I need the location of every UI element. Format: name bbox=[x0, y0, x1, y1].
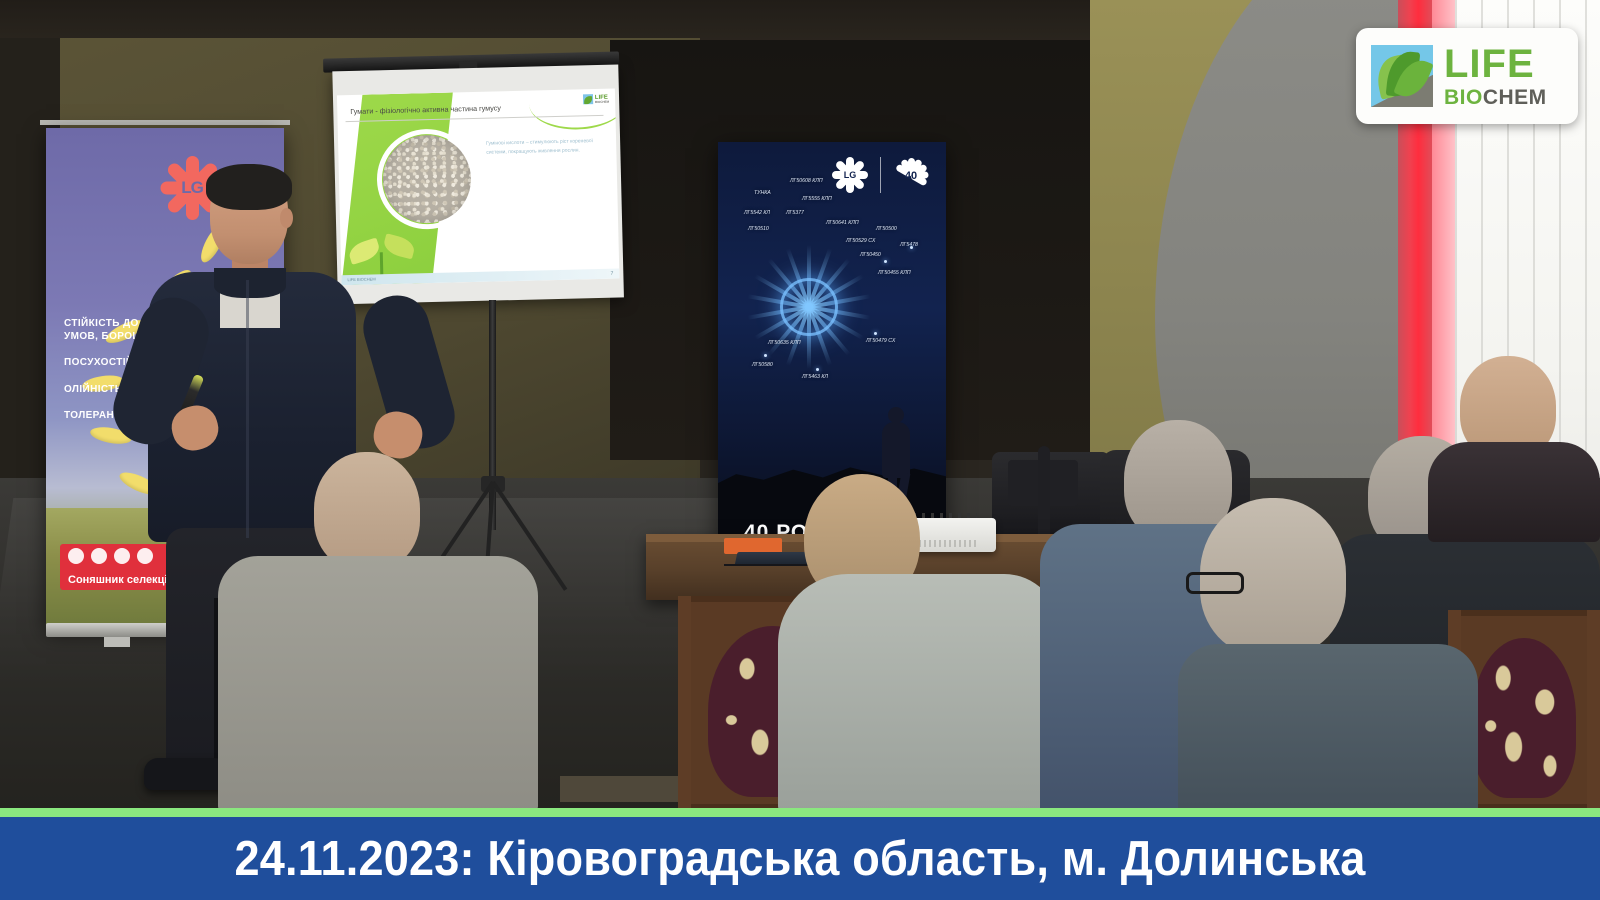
torso bbox=[218, 556, 538, 808]
head bbox=[314, 452, 420, 570]
anniversary-number: 40 bbox=[905, 170, 917, 182]
constellation-node bbox=[884, 260, 887, 263]
anniversary-badge-icon: 40 bbox=[890, 154, 932, 196]
leaf-icon bbox=[1371, 45, 1433, 107]
logo-wordmark: LIFE BIOCHEM bbox=[1444, 44, 1547, 108]
logo-chem-text: CHEM bbox=[1483, 86, 1547, 109]
hybrid-label: ЛГ50479 СХ bbox=[866, 338, 895, 344]
banner-right-logos: LG 40 bbox=[829, 154, 932, 196]
presenter-collar bbox=[214, 268, 286, 298]
photo-slide: LG СТІЙКІСТЬ ДО НЕСПРИЯТЛИВИХ УМОВ, БОРО… bbox=[0, 0, 1600, 900]
presenter-ear bbox=[280, 208, 293, 228]
hybrid-label: ЛГ5555 КЛП bbox=[802, 196, 832, 202]
hybrid-label: ЛГ50529 СХ bbox=[846, 238, 875, 244]
logo-biochem-text: BIOCHEM bbox=[1444, 87, 1547, 108]
caption-green-rule bbox=[0, 808, 1600, 817]
lg-logo-icon: LG bbox=[829, 154, 871, 196]
lg-logo-text: LG bbox=[844, 170, 857, 180]
glasses-icon bbox=[1186, 572, 1244, 594]
hybrid-label: ЛГ50580 bbox=[752, 362, 773, 368]
leaf-icon bbox=[583, 94, 593, 104]
hoodie bbox=[778, 574, 1060, 808]
hybrid-label: ЛГ50510 bbox=[748, 226, 769, 232]
logo-life-text: LIFE bbox=[1444, 44, 1547, 84]
hybrid-label: ЛГ50450 bbox=[860, 252, 881, 258]
hybrid-label: ЛГ5463 КЛ bbox=[802, 374, 828, 380]
hybrid-label: ЛГ50641 КЛП bbox=[826, 220, 859, 226]
banner-left-rod bbox=[40, 120, 290, 125]
slide-page-number: 7 bbox=[610, 271, 613, 277]
leaf-icon bbox=[91, 548, 107, 564]
logo-divider bbox=[880, 157, 881, 193]
audience-member bbox=[218, 452, 538, 808]
life-biochem-logo: LIFE BIOCHEM bbox=[1356, 28, 1578, 124]
audience-member bbox=[778, 474, 1060, 808]
sunflower-constellation-icon bbox=[744, 242, 874, 372]
slide-body-text: Гумінові кислоти – стимулюють ріст корен… bbox=[486, 137, 612, 158]
torso bbox=[1428, 442, 1600, 542]
hybrid-label: ЛГ50608 КЛП bbox=[790, 178, 823, 184]
hybrid-label: ЛГ5377 bbox=[786, 210, 804, 216]
hybrid-label: ЛГ5542 КЛ bbox=[744, 210, 770, 216]
logo-bio-text: BIO bbox=[1444, 86, 1483, 109]
slide-logo-sub: BIOCHEM bbox=[595, 100, 609, 103]
hybrid-label: ЛГ50500 bbox=[876, 226, 897, 232]
hybrid-label: ТУНКА bbox=[754, 190, 771, 196]
event-photo: LG СТІЙКІСТЬ ДО НЕСПРИЯТЛИВИХ УМОВ, БОРО… bbox=[0, 0, 1600, 808]
audience-member bbox=[1178, 498, 1478, 808]
slide-logo: LIFE BIOCHEM bbox=[583, 94, 609, 105]
banner-left-foot bbox=[104, 637, 130, 647]
sunflower-icon bbox=[68, 548, 84, 564]
constellation-node bbox=[816, 368, 819, 371]
hybrid-label: ЛГ50635 КЛП bbox=[768, 340, 801, 346]
audience-member bbox=[1420, 356, 1600, 538]
constellation-node bbox=[910, 246, 913, 249]
presenter-hair bbox=[206, 164, 292, 210]
caption-text: 24.11.2023: Кіровоградська область, м. Д… bbox=[64, 817, 1536, 900]
lg-logo-text: LG bbox=[181, 178, 203, 198]
hybrid-label: ЛГ50455 КЛП bbox=[878, 270, 911, 276]
hybrid-label: ЛГ5478 bbox=[900, 242, 918, 248]
ceiling bbox=[0, 0, 1160, 42]
slide-logo-text: LIFE BIOCHEM bbox=[595, 94, 609, 103]
constellation-node bbox=[764, 354, 767, 357]
torso bbox=[1178, 644, 1478, 808]
constellation-node bbox=[874, 332, 877, 335]
